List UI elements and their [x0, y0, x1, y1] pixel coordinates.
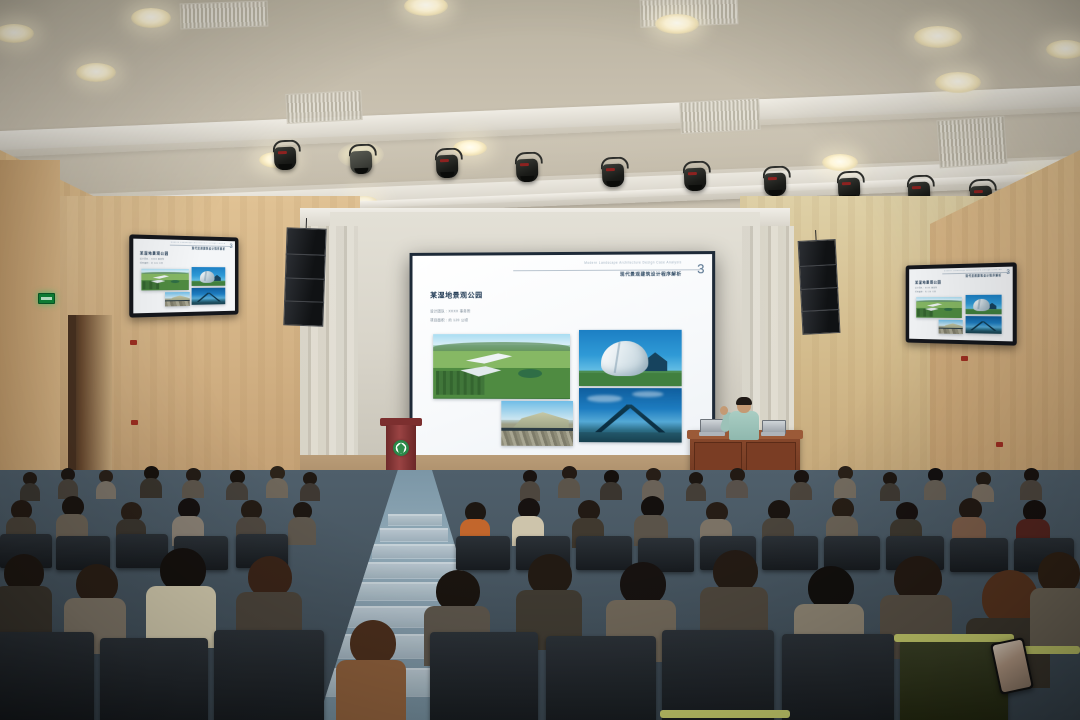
earth-mound-photo [165, 292, 190, 307]
stage-spotlight [271, 140, 298, 171]
slide-page-number: 3 [230, 244, 233, 250]
presenter-person [726, 398, 762, 440]
audience-member [880, 472, 900, 500]
ceiling-downlight [822, 154, 858, 171]
line-array-speaker-left [283, 227, 324, 324]
ceiling-downlight [404, 0, 448, 16]
wall-fixture [996, 442, 1003, 447]
air-vent-icon [180, 0, 269, 29]
slide-header-faint: Modern Landscape Architecture Design Cas… [516, 261, 681, 266]
lecture-hall-photo: Modern Landscape Architecture Design Cas… [0, 0, 1080, 720]
audience-member [288, 502, 316, 544]
stage-spotlight [513, 152, 540, 183]
audience-member [146, 548, 216, 644]
stage-spotlight-lit [347, 144, 374, 175]
university-crest-icon [393, 440, 409, 456]
slide-title: 某湿地景观公园 [915, 281, 941, 286]
audience-member [226, 470, 248, 500]
ceiling-downlight [76, 63, 116, 82]
audience-member [834, 466, 856, 498]
slide-content: Modern Landscape Architecture Design Cas… [413, 254, 713, 464]
right-monitor-screen: Modern Landscape Architecture Design Cas… [909, 267, 1013, 342]
wall-fixture [131, 420, 138, 425]
aerial-park-photo [141, 269, 189, 291]
audience-member [300, 472, 320, 500]
laptop-right[interactable] [762, 420, 784, 436]
angular-pavilion-photo [579, 388, 682, 443]
audience-member [1020, 468, 1042, 500]
left-wall-return [0, 160, 60, 490]
shell-dome-photo [192, 267, 225, 286]
ceiling-downlight [914, 26, 962, 48]
audience-near-rows [0, 560, 1080, 720]
audience-member [96, 470, 116, 498]
line-array-speaker-right [798, 239, 839, 333]
slide-subtitle-2: 项目面积 : 约 120 公顷 [915, 290, 936, 293]
projected-slide: Modern Landscape Architecture Design Cas… [413, 254, 713, 464]
slide-header-cn: 现代景观建筑设计程序解析 [192, 246, 226, 251]
audience-member [1030, 552, 1080, 644]
wall-fixture [130, 340, 137, 345]
side-door[interactable] [68, 315, 112, 480]
slide-subtitle-2: 项目面积 : 约 120 公顷 [140, 261, 163, 264]
audience-member [790, 470, 812, 500]
shell-dome-photo [965, 295, 1001, 314]
audience-member [924, 468, 946, 500]
right-wall-monitor: Modern Landscape Architecture Design Cas… [906, 262, 1017, 345]
exit-sign-icon [38, 293, 55, 304]
slide-subtitle-2: 项目面积 : 约 120 公顷 [430, 318, 468, 323]
slide-mirror-right: Modern Landscape Architecture Design Cas… [909, 267, 1013, 342]
audience-member [336, 620, 406, 720]
audience-member [20, 472, 40, 500]
stage-spotlight [599, 157, 626, 188]
audience-member [634, 496, 668, 544]
ceiling-downlight [935, 72, 981, 93]
air-vent-icon [679, 98, 761, 134]
slide-title: 某湿地景观公园 [430, 291, 482, 301]
audience-member [558, 466, 580, 498]
projection-screen: Modern Landscape Architecture Design Cas… [410, 251, 716, 467]
audience-member [58, 468, 78, 498]
ceiling-downlight [1046, 40, 1080, 59]
audience-member [686, 472, 706, 500]
slide-page-number: 3 [1007, 270, 1010, 276]
aerial-park-photo [916, 297, 962, 319]
slide-subtitle-1: 设计团队 : XXXX 事务所 [430, 308, 470, 313]
audience-member [600, 470, 622, 500]
stage-spotlight [433, 148, 460, 179]
angular-pavilion-photo [192, 287, 225, 304]
wall-fixture [961, 356, 968, 361]
audience-member [182, 468, 204, 498]
shell-dome-photo [579, 330, 682, 387]
audience-member [726, 468, 748, 498]
slide-page-number: 3 [697, 263, 704, 276]
audience-member [140, 466, 162, 498]
slide-header-cn: 现代景观建筑设计程序解析 [965, 273, 1001, 278]
earth-mound-photo [939, 320, 964, 335]
slide-mirror-left: Modern Landscape Architecture Design Cas… [133, 239, 235, 314]
audience-member [266, 466, 288, 498]
left-monitor-screen: Modern Landscape Architecture Design Cas… [133, 239, 235, 314]
stage-spotlight [681, 161, 708, 192]
audience-member [0, 554, 52, 634]
audience-member [520, 470, 540, 500]
air-vent-icon [936, 116, 1007, 169]
ceiling-downlight [0, 24, 34, 43]
slide-title: 某湿地景观公园 [140, 251, 169, 257]
aerial-park-photo [433, 334, 570, 399]
left-wall-monitor: Modern Landscape Architecture Design Cas… [129, 234, 238, 317]
earth-mound-photo [501, 400, 573, 446]
slide-header-cn: 现代景观建筑设计程序解析 [620, 271, 682, 277]
stage-spotlight [761, 166, 788, 197]
angular-pavilion-photo [965, 316, 1001, 334]
ceiling-downlight [131, 8, 171, 28]
air-vent-icon [285, 90, 362, 124]
ceiling-downlight [655, 14, 699, 34]
